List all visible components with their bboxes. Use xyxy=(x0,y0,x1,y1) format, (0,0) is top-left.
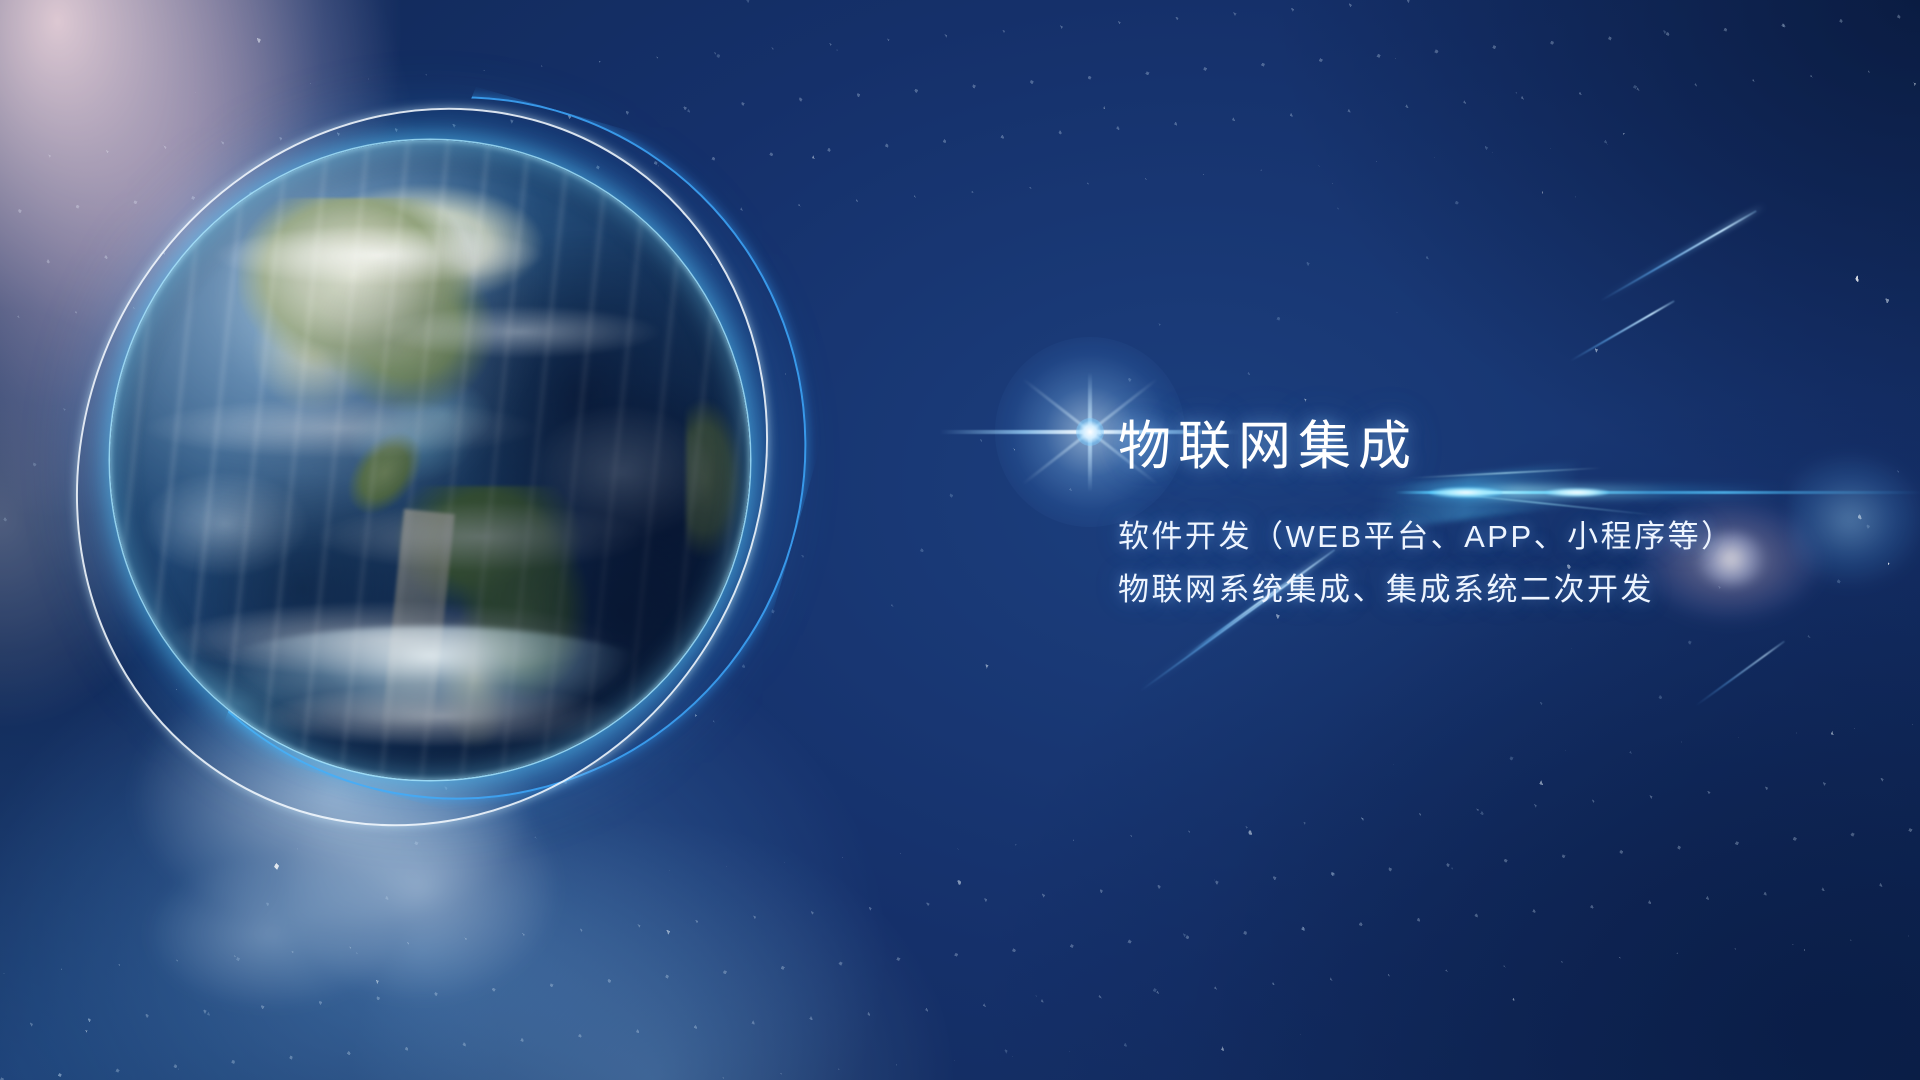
banner-title: 物联网集成 xyxy=(1118,418,1878,475)
hero-banner: 物联网集成 软件开发（WEB平台、APP、小程序等） 物联网系统集成、集成系统二… xyxy=(0,0,1920,1080)
flare-vertical-beam xyxy=(1088,372,1092,492)
banner-subtitle-2: 物联网系统集成、集成系统二次开发 xyxy=(1118,574,1878,605)
banner-subtitle-1: 软件开发（WEB平台、APP、小程序等） xyxy=(1118,521,1878,552)
flare-core xyxy=(1076,418,1104,446)
banner-copy: 物联网集成 软件开发（WEB平台、APP、小程序等） 物联网系统集成、集成系统二… xyxy=(1118,418,1878,605)
